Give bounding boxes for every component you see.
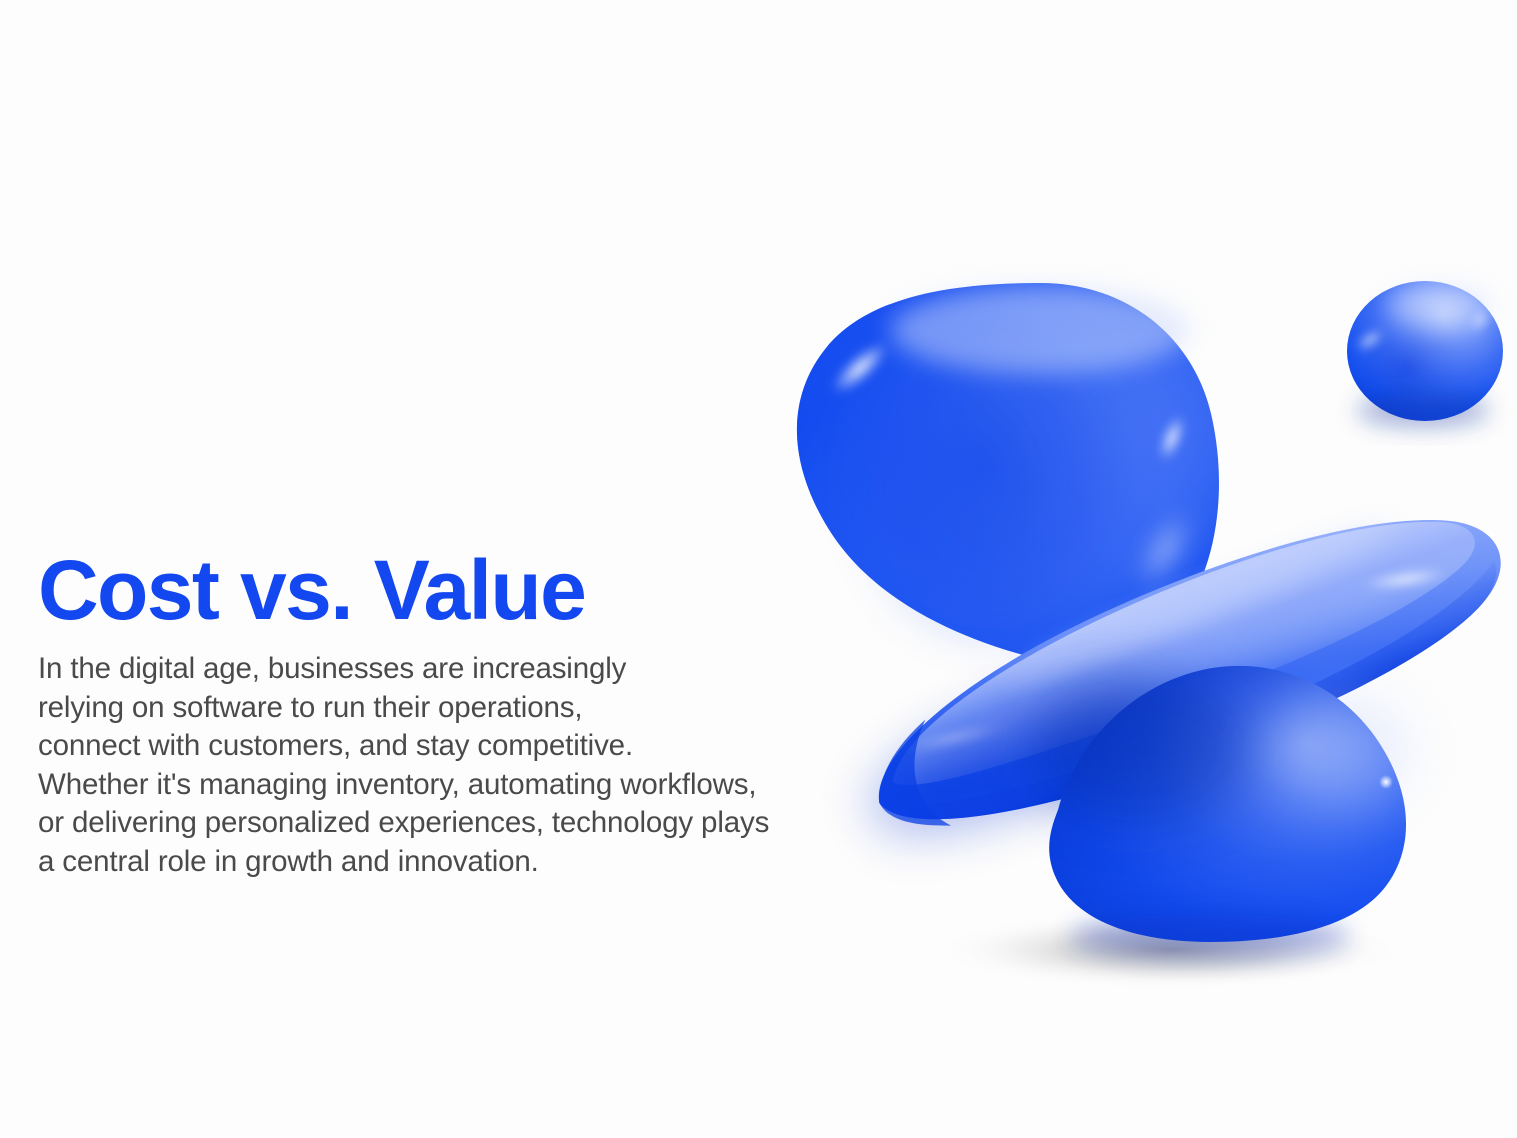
- base-highlight: [1379, 775, 1393, 789]
- balance-scale-illustration: [740, 250, 1517, 990]
- small-ellipsoid-blob: [1347, 281, 1503, 426]
- slide-canvas: Cost vs. Value In the digital age, busin…: [0, 0, 1517, 1138]
- balance-scale-svg: [740, 250, 1517, 990]
